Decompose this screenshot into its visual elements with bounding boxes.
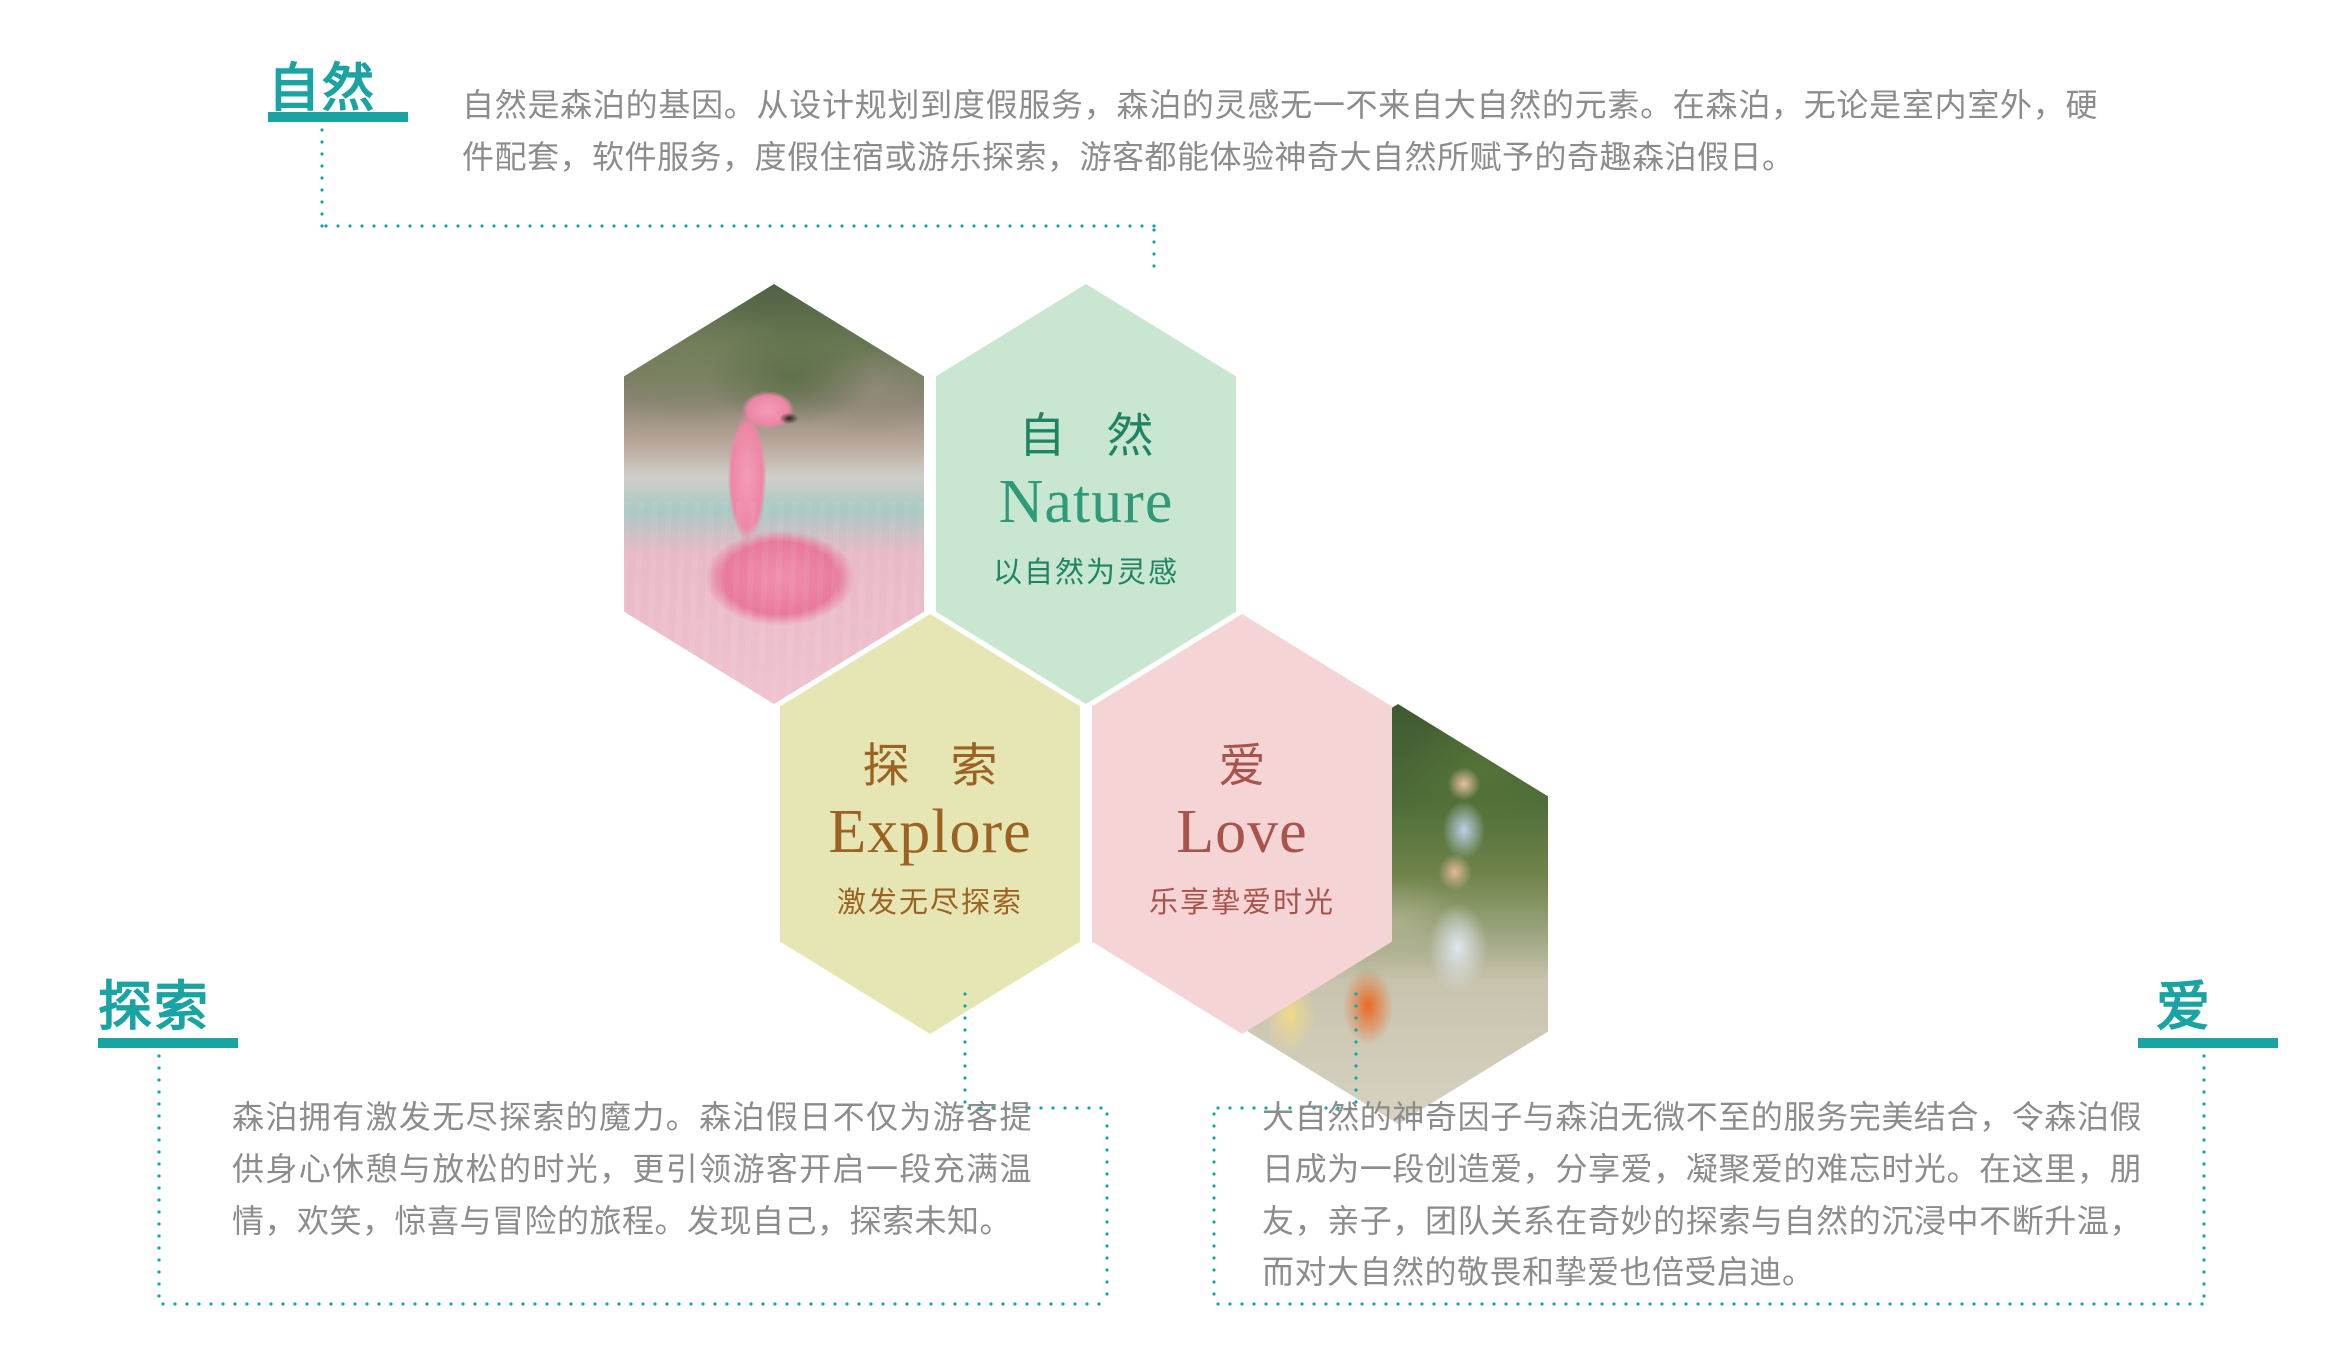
hex-nature-cn: 自 然 xyxy=(1004,397,1167,466)
connector-explore-right xyxy=(1105,1108,1109,1304)
hex-love-sub: 乐享挚爱时光 xyxy=(1149,879,1335,921)
section-rule-explore xyxy=(98,1038,238,1048)
hex-love-cn: 爱 xyxy=(1205,727,1280,796)
hex-explore-cn: 探 索 xyxy=(848,727,1011,796)
connector-love-stub xyxy=(1354,988,1358,1108)
hex-nature-en: Nature xyxy=(999,470,1174,535)
hex-nature[interactable]: 自 然 Nature 以自然为灵感 xyxy=(936,284,1236,704)
section-rule-nature xyxy=(268,112,408,122)
infographic-page: 自然 自然是森泊的基因。从设计规划到度假服务，森泊的灵感无一不来自大自然的元素。… xyxy=(0,0,2339,1347)
connector-love-left xyxy=(1212,1108,1216,1304)
section-label-explore: 探索 xyxy=(98,962,210,1041)
paragraph-nature: 自然是森泊的基因。从设计规划到度假服务，森泊的灵感无一不来自大自然的元素。在森泊… xyxy=(462,80,2098,184)
paragraph-love: 大自然的神奇因子与森泊无微不至的服务完美结合，令森泊假日成为一段创造爱，分享爱，… xyxy=(1262,1092,2142,1299)
connector-nature-vertical-right xyxy=(1152,224,1156,276)
paragraph-explore: 森泊拥有激发无尽探索的魔力。森泊假日不仅为游客提供身心休憩与放松的时光，更引领游… xyxy=(232,1092,1032,1247)
section-rule-love xyxy=(2138,1038,2278,1048)
hex-explore-sub: 激发无尽探索 xyxy=(837,879,1023,921)
hex-explore-en: Explore xyxy=(828,800,1031,865)
hex-photo-flamingo xyxy=(624,284,924,704)
connector-explore-left xyxy=(157,1050,161,1306)
connector-explore-bottom xyxy=(157,1302,1109,1306)
hex-nature-sub: 以自然为灵感 xyxy=(993,549,1179,591)
connector-nature-vertical-left xyxy=(320,124,324,228)
connector-explore-stub xyxy=(963,988,967,1108)
hex-love-en: Love xyxy=(1176,800,1307,865)
hex-explore[interactable]: 探 索 Explore 激发无尽探索 xyxy=(780,614,1080,1034)
connector-nature-horizontal xyxy=(320,224,1156,228)
section-label-love: 爱 xyxy=(2156,962,2212,1041)
connector-love-bottom xyxy=(1212,1302,2206,1306)
section-label-nature: 自然 xyxy=(268,46,376,121)
connector-love-right xyxy=(2202,1050,2206,1306)
